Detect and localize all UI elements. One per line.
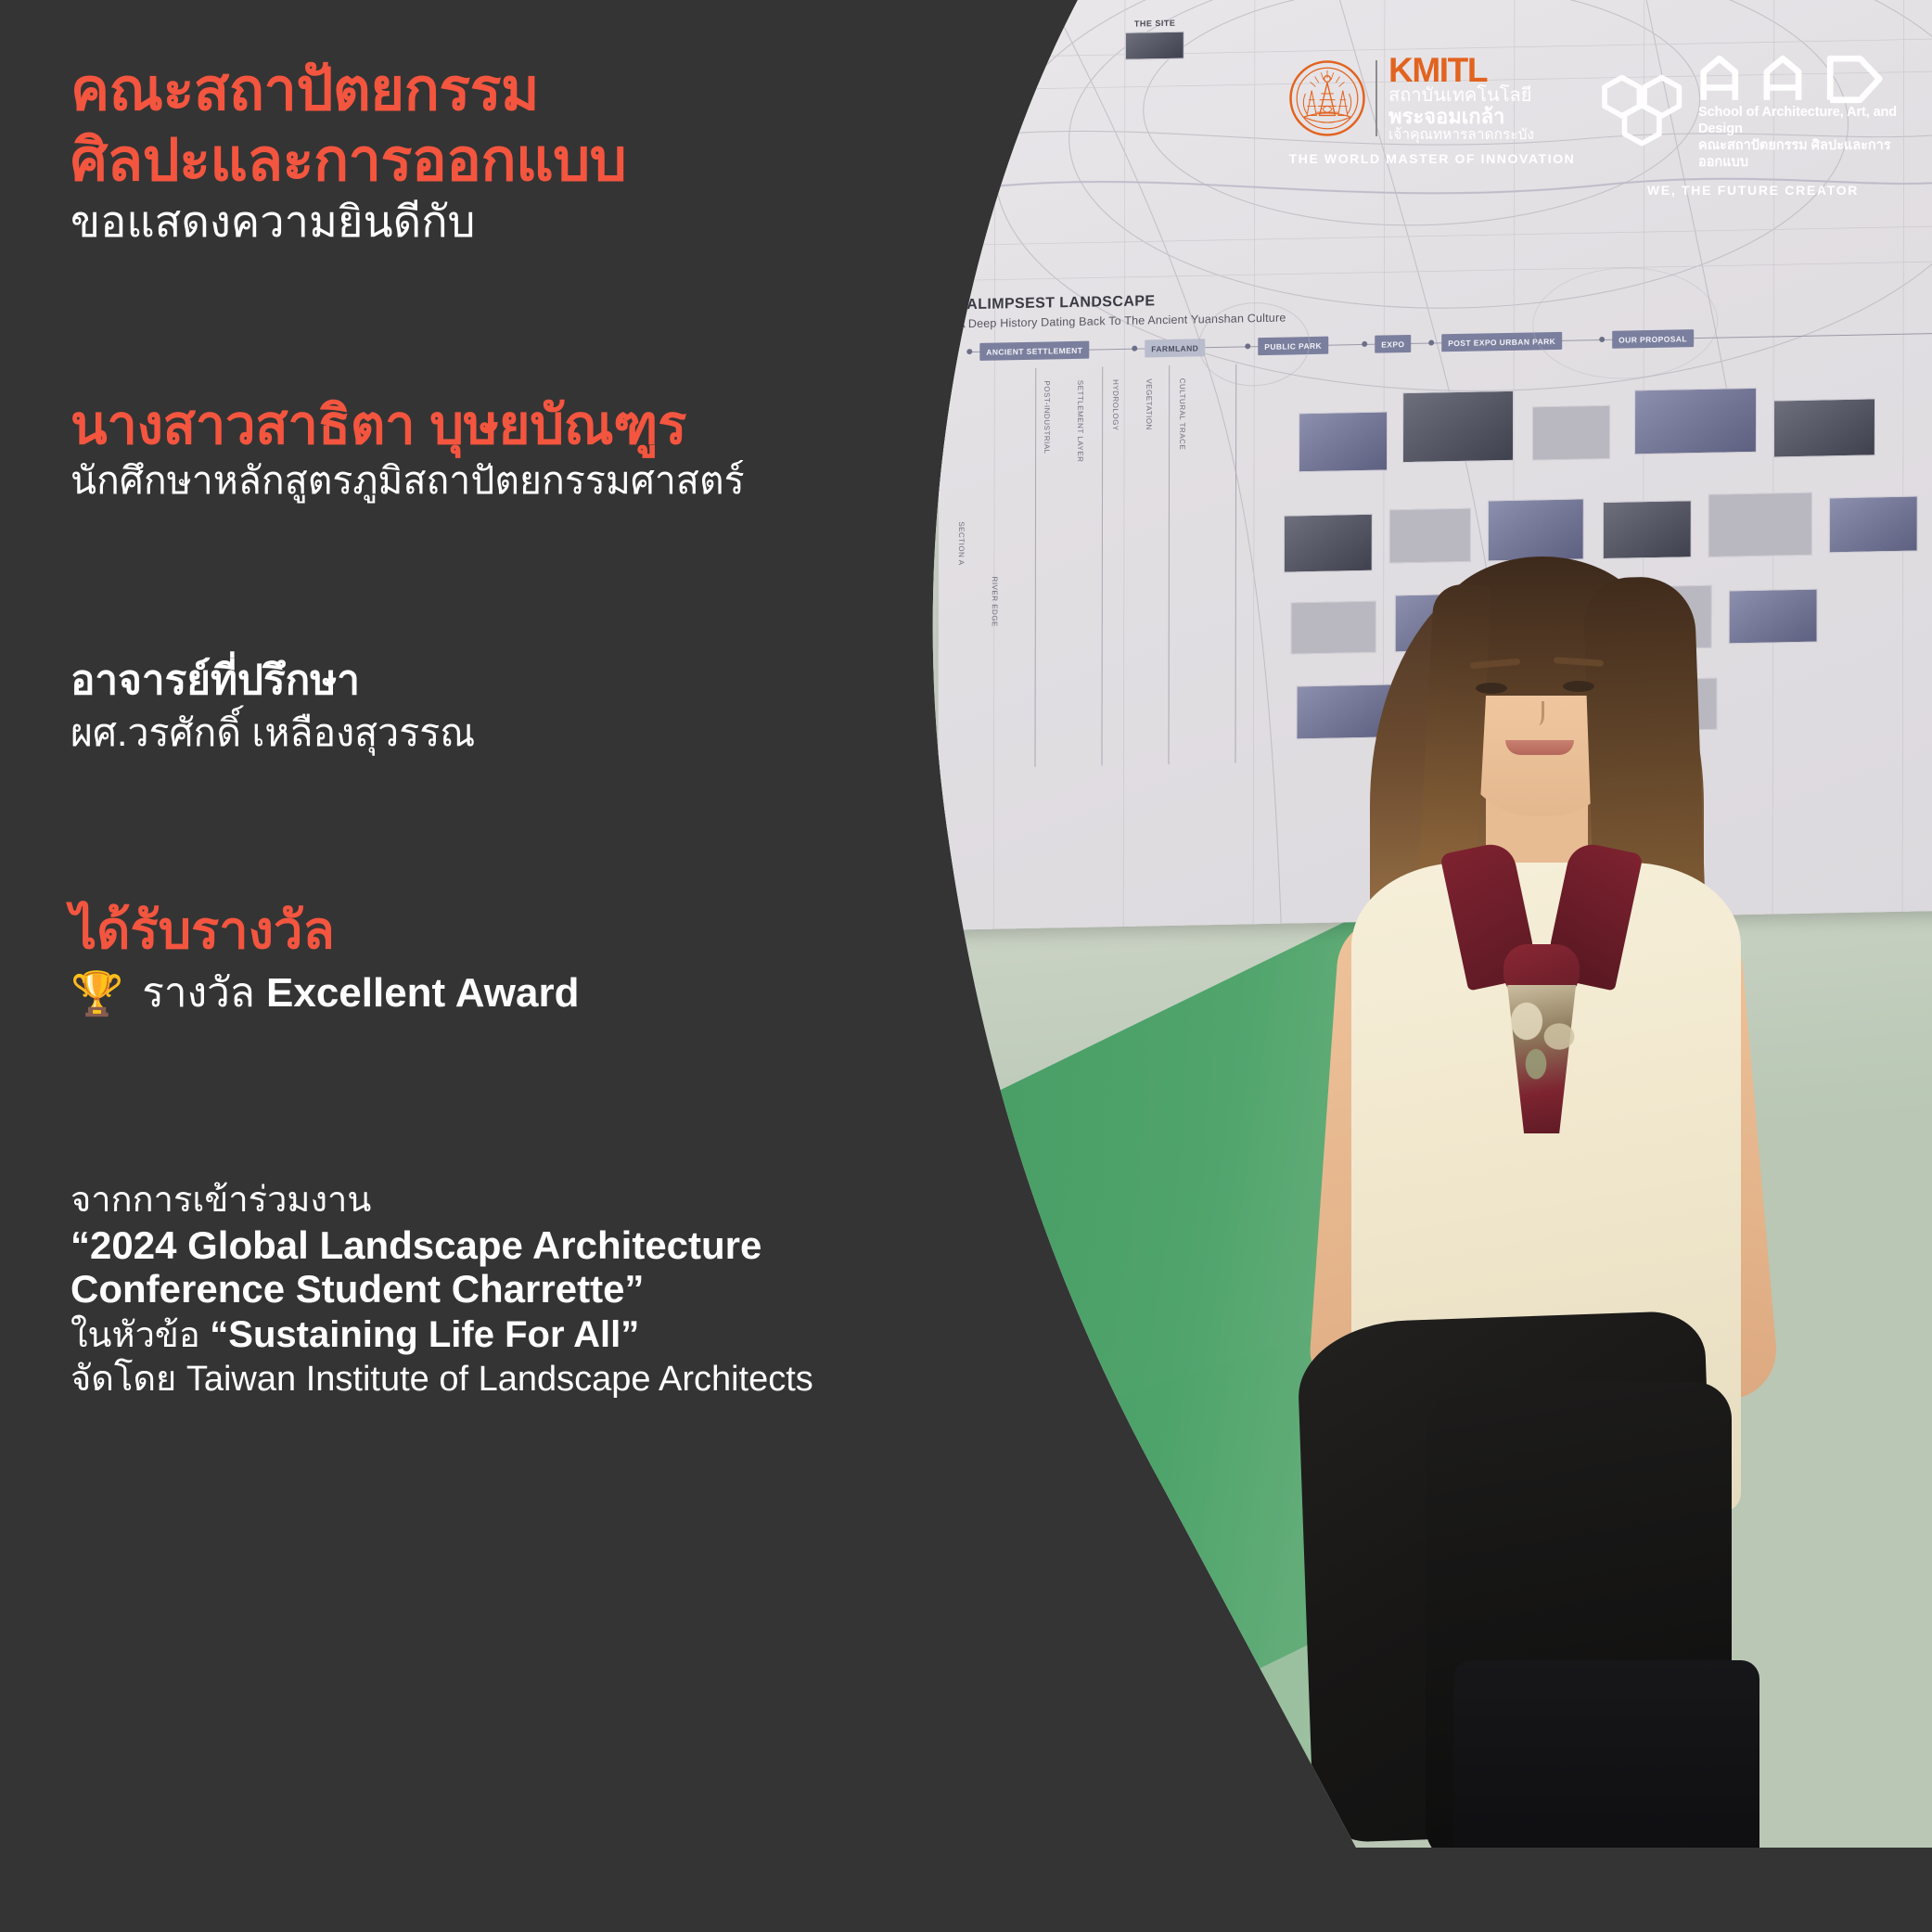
award-label: รางวัล Excellent Award — [142, 973, 579, 1014]
student-program: นักศึกษาหลักสูตรภูมิสถาปัตยกรรมศาสตร์ — [70, 462, 745, 500]
timeline-chip: ANCIENT SETTLEMENT — [979, 341, 1089, 361]
kmitl-seal-icon — [1288, 59, 1366, 137]
event-block: จากการเข้าร่วมงาน “2024 Global Landscape… — [70, 1180, 942, 1401]
topic-prefix: ในหัวข้อ — [70, 1316, 210, 1355]
aad-subtitle-en: School of Architecture, Art, and Design — [1698, 104, 1906, 137]
timeline-chip: EXPO — [1375, 335, 1411, 353]
kmitl-wordmark: KMITL — [1388, 54, 1534, 86]
logo-divider — [1375, 60, 1377, 136]
aad-logo: School of Architecture, Art, and Design … — [1600, 54, 1906, 198]
event-topic-line: ในหัวข้อ “Sustaining Life For All” — [70, 1312, 942, 1358]
advisor-name: ผศ.วรศักดิ์ เหลืองสุวรรณ — [70, 714, 475, 752]
kmitl-motto: THE WORLD MASTER OF INNOVATION — [1288, 151, 1576, 166]
event-name: “2024 Global Landscape Architecture Conf… — [70, 1223, 942, 1311]
aad-wordmark — [1698, 54, 1906, 104]
aad-motto: WE, THE FUTURE CREATOR — [1600, 183, 1906, 198]
timeline-chip: FARMLAND — [1145, 339, 1205, 357]
trophy-icon: 🏆 — [70, 972, 123, 1015]
organizer-prefix: จัดโดย — [70, 1360, 186, 1399]
award-title: Excellent Award — [266, 970, 579, 1016]
event-organizer-line: จัดโดย Taiwan Institute of Landscape Arc… — [70, 1359, 942, 1401]
board-site-label: THE SITE — [1134, 19, 1176, 29]
advisor-heading: อาจารย์ที่ปรึกษา — [70, 660, 360, 701]
award-row: 🏆 รางวัล Excellent Award — [70, 972, 579, 1015]
aad-hexagon-icon — [1600, 72, 1689, 152]
student-name: นางสาวสาธิตา บุษยบัณฑูร — [70, 399, 686, 453]
kmitl-thai-line-3: เจ้าคุณทหารลาดกระบัง — [1388, 127, 1534, 143]
logo-bar: KMITL สถาบันเทคโนโลยี พระจอมเกล้า เจ้าคุ… — [1288, 54, 1906, 198]
faculty-line-2: ศิลปะและการออกแบบ — [70, 132, 626, 190]
kmitl-thai-line-1: สถาบันเทคโนโลยี — [1388, 86, 1534, 106]
congratulations-poster: THE SITE PALIMPSEST LANDSCAPE A Deep His… — [0, 0, 1932, 1932]
congratulations-text: ขอแสดงความยินดีกับ — [70, 199, 476, 243]
faculty-line-1: คณะสถาปัตยกรรม — [70, 61, 539, 120]
event-from: จากการเข้าร่วมงาน — [70, 1180, 942, 1222]
kmitl-logo: KMITL สถาบันเทคโนโลยี พระจอมเกล้า เจ้าคุ… — [1288, 54, 1576, 166]
student-photo: THE SITE PALIMPSEST LANDSCAPE A Deep His… — [929, 0, 1932, 1848]
award-prefix: รางวัล — [142, 970, 266, 1016]
event-organizer: Taiwan Institute of Landscape Architects — [186, 1360, 813, 1399]
aad-subtitle-th: คณะสถาปัตยกรรม ศิลปะและการออกแบบ — [1698, 137, 1906, 171]
event-topic: “Sustaining Life For All” — [210, 1314, 639, 1355]
student-figure — [1314, 519, 1834, 1848]
award-heading: ได้รับรางวัล — [70, 904, 335, 956]
board-thumbnail — [1125, 32, 1184, 60]
kmitl-thai-line-2: พระจอมเกล้า — [1388, 106, 1534, 127]
